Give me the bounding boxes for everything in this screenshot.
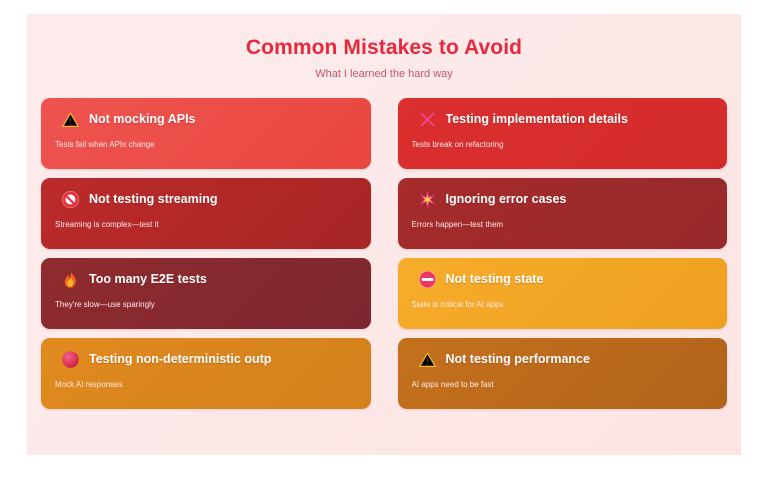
sparkle-icon bbox=[418, 190, 437, 209]
mistake-card[interactable]: Too many E2E testsThey're slow—use spari… bbox=[41, 258, 371, 329]
card-title: Testing implementation details bbox=[446, 112, 628, 126]
no-entry-icon bbox=[418, 270, 437, 289]
card-header: Not testing performance bbox=[412, 349, 714, 369]
card-title: Testing non-deterministic outp bbox=[89, 352, 271, 366]
prohibited-icon bbox=[61, 190, 80, 209]
card-title: Not testing performance bbox=[446, 352, 590, 366]
card-description: They're slow—use sparingly bbox=[55, 300, 357, 309]
mistake-card[interactable]: Ignoring error casesErrors happen—test t… bbox=[398, 178, 728, 249]
cross-mark-icon bbox=[418, 110, 437, 129]
warning-triangle-icon bbox=[61, 110, 80, 129]
card-description: Tests break on refactoring bbox=[412, 140, 714, 149]
card-title: Ignoring error cases bbox=[446, 192, 567, 206]
card-description: Errors happen—test them bbox=[412, 220, 714, 229]
mistake-card[interactable]: Not testing stateState is critical for A… bbox=[398, 258, 728, 329]
card-header: Too many E2E tests bbox=[55, 269, 357, 289]
card-description: Streaming is complex—test it bbox=[55, 220, 357, 229]
card-header: Testing implementation details bbox=[412, 109, 714, 129]
slide-header: Common Mistakes to Avoid What I learned … bbox=[27, 14, 741, 80]
mistake-card[interactable]: Not mocking APIsTests fail when APIs cha… bbox=[41, 98, 371, 169]
card-description: Tests fail when APIs change bbox=[55, 140, 357, 149]
card-description: AI apps need to be fast bbox=[412, 380, 714, 389]
mistake-card[interactable]: Not testing streamingStreaming is comple… bbox=[41, 178, 371, 249]
card-header: Not testing streaming bbox=[55, 189, 357, 209]
slide-canvas: Common Mistakes to Avoid What I learned … bbox=[27, 14, 741, 455]
mistake-card[interactable]: Testing non-deterministic outpMock AI re… bbox=[41, 338, 371, 409]
card-title: Not testing state bbox=[446, 272, 544, 286]
card-header: Not testing state bbox=[412, 269, 714, 289]
page-subtitle: What I learned the hard way bbox=[27, 60, 741, 80]
red-circle-icon bbox=[61, 350, 80, 369]
card-title: Not mocking APIs bbox=[89, 112, 196, 126]
card-title: Too many E2E tests bbox=[89, 272, 207, 286]
mistake-card[interactable]: Testing implementation detailsTests brea… bbox=[398, 98, 728, 169]
page-title: Common Mistakes to Avoid bbox=[27, 36, 741, 60]
fire-icon bbox=[61, 270, 80, 289]
card-header: Testing non-deterministic outp bbox=[55, 349, 357, 369]
mistake-card[interactable]: Not testing performanceAI apps need to b… bbox=[398, 338, 728, 409]
warning-triangle-icon bbox=[418, 350, 437, 369]
card-header: Ignoring error cases bbox=[412, 189, 714, 209]
card-title: Not testing streaming bbox=[89, 192, 218, 206]
card-header: Not mocking APIs bbox=[55, 109, 357, 129]
card-description: State is critical for AI apps bbox=[412, 300, 714, 309]
card-description: Mock AI responses bbox=[55, 380, 357, 389]
mistakes-card-grid: Not mocking APIsTests fail when APIs cha… bbox=[41, 98, 727, 409]
